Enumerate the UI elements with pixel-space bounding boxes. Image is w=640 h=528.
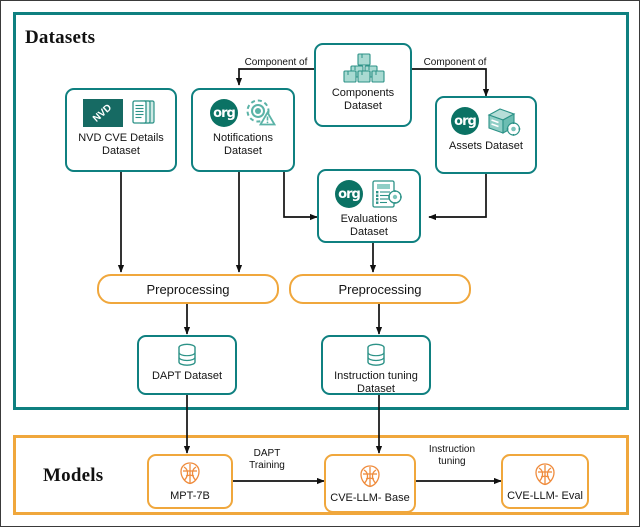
node-mpt-7b[interactable]: MPT-7B xyxy=(147,454,233,509)
checklist-gear-icon xyxy=(369,179,403,209)
node-dapt-dataset[interactable]: DAPT Dataset xyxy=(137,335,237,395)
documents-icon xyxy=(129,98,159,128)
boxes-stack-icon xyxy=(340,52,386,84)
edge-label-dapt-training: DAPT Training xyxy=(239,448,295,472)
node-icons: org xyxy=(335,177,403,211)
edge-label-component-of-left: Component of xyxy=(234,57,318,69)
edge-components-to-notifications xyxy=(239,69,314,85)
edge-assets-to-evaluations xyxy=(429,174,486,217)
node-assets-dataset[interactable]: org Assets Dataset xyxy=(435,96,537,174)
node-label: Assets Dataset xyxy=(445,140,527,153)
node-components-dataset[interactable]: Components Dataset xyxy=(314,43,412,127)
node-label: CVE-LLM- Base xyxy=(330,492,409,505)
node-label: Evaluations Dataset xyxy=(319,213,419,239)
org-badge-icon: org xyxy=(451,107,479,135)
node-icons xyxy=(174,342,200,368)
node-label: MPT-7B xyxy=(170,490,210,503)
node-preprocessing-right[interactable]: Preprocessing xyxy=(289,274,471,304)
node-label: Instruction tuning Dataset xyxy=(323,370,429,396)
edge-components-to-assets xyxy=(412,69,486,96)
brain-icon xyxy=(177,460,203,486)
node-evaluations-dataset[interactable]: org Evaluations Datas xyxy=(317,169,421,243)
node-cve-llm-eval[interactable]: CVE-LLM- Eval xyxy=(501,454,589,509)
node-icons: org xyxy=(210,96,276,130)
node-cve-llm-base[interactable]: CVE-LLM- Base xyxy=(324,454,416,513)
edge-notifications-to-evaluations xyxy=(284,172,317,217)
node-nvd-cve-details-dataset[interactable]: NVD NVD CVE Details Dataset xyxy=(65,88,177,172)
node-icons: NVD xyxy=(83,96,159,130)
diagram-canvas: Datasets Models xyxy=(0,0,640,527)
edge-label-instruction-tuning: Instruction tuning xyxy=(418,444,486,468)
node-label: NVD CVE Details Dataset xyxy=(67,132,175,158)
brain-icon xyxy=(357,463,383,489)
node-icons: org xyxy=(451,104,521,138)
node-notifications-dataset[interactable]: org Notifications Dataset xyxy=(191,88,295,172)
gear-alert-icon xyxy=(244,98,276,128)
org-badge-icon: org xyxy=(335,180,363,208)
preprocessing-label: Preprocessing xyxy=(338,282,421,297)
brain-icon xyxy=(532,461,558,487)
node-icons xyxy=(363,342,389,368)
node-label: CVE-LLM- Eval xyxy=(507,490,583,503)
node-instruction-tuning-dataset[interactable]: Instruction tuning Dataset xyxy=(321,335,431,395)
package-gear-icon xyxy=(485,105,521,137)
nvd-tile-icon: NVD xyxy=(83,99,123,127)
node-preprocessing-left[interactable]: Preprocessing xyxy=(97,274,279,304)
node-label: Notifications Dataset xyxy=(193,132,293,158)
database-icon xyxy=(174,342,200,368)
edge-label-component-of-right: Component of xyxy=(413,57,497,69)
node-icons xyxy=(340,51,386,85)
database-icon xyxy=(363,342,389,368)
node-label: DAPT Dataset xyxy=(148,370,226,383)
node-label: Components Dataset xyxy=(316,87,410,113)
org-badge-icon: org xyxy=(210,99,238,127)
preprocessing-label: Preprocessing xyxy=(146,282,229,297)
